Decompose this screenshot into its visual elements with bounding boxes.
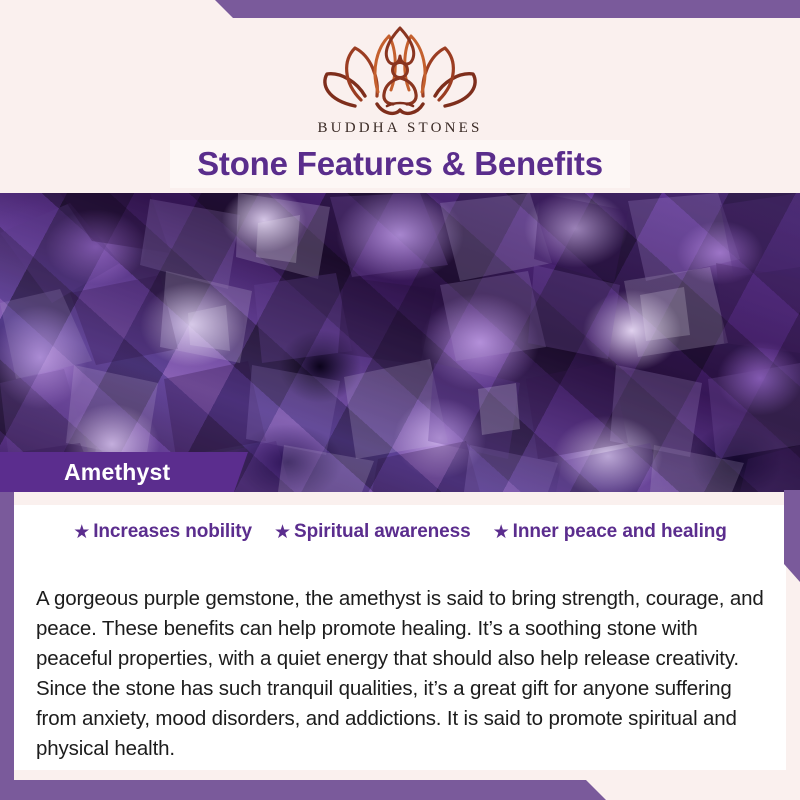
benefit-label: Spiritual awareness: [294, 521, 471, 543]
lotus-meditation-figure-icon: [315, 22, 485, 118]
benefits-list: ★ Increases nobility ★ Spiritual awarene…: [28, 521, 772, 543]
header-section: BUDDHA STONES Stone Features & Benefits: [0, 0, 800, 193]
benefit-label: Increases nobility: [93, 521, 252, 543]
benefit-item-inner-peace-and-healing: ★ Inner peace and healing: [493, 521, 727, 543]
stone-description: A gorgeous purple gemstone, the amethyst…: [36, 584, 776, 764]
content-panel-inner: ★ Increases nobility ★ Spiritual awarene…: [14, 505, 786, 770]
star-icon: ★: [493, 523, 510, 542]
benefit-item-increases-nobility: ★ Increases nobility: [73, 521, 252, 543]
infographic-card: BUDDHA STONES Stone Features & Benefits: [0, 0, 800, 800]
star-icon: ★: [73, 523, 90, 542]
frame-left-accent-rail: [0, 492, 14, 782]
page-title: Stone Features & Benefits: [197, 145, 603, 183]
benefit-label: Inner peace and healing: [513, 521, 727, 543]
page-title-plate: Stone Features & Benefits: [170, 140, 630, 188]
hero-vignette: [0, 193, 800, 492]
brand-wordmark: BUDDHA STONES: [0, 120, 800, 137]
star-icon: ★: [274, 523, 291, 542]
brand-logo: BUDDHA STONES: [0, 22, 800, 137]
frame-top-right-corner: [785, 0, 800, 18]
content-panel: ★ Increases nobility ★ Spiritual awarene…: [0, 492, 800, 800]
benefit-item-spiritual-awareness: ★ Spiritual awareness: [274, 521, 471, 543]
stone-name-banner: Amethyst: [0, 452, 248, 492]
stone-name-label: Amethyst: [64, 459, 170, 486]
amethyst-hero-image: [0, 193, 800, 492]
